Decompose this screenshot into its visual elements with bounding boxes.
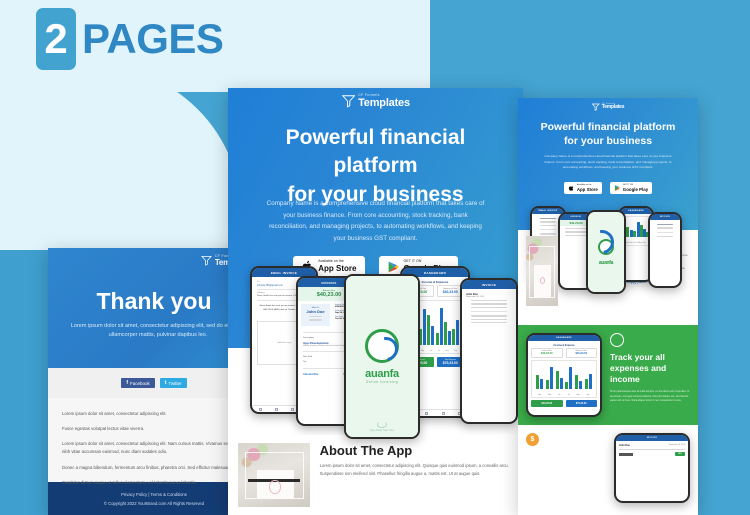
description-label: Description [303,337,314,339]
bar-income-may [546,380,549,390]
bar-group [444,304,451,345]
bar-expense-jul [569,367,572,390]
billed-to-block: Billed To John Doe [301,304,330,326]
x-tick-label: Aug [577,394,580,396]
green-section-phone[interactable]: DASHBOARD Income & Expense Income of Yea… [526,333,602,417]
right-store-buttons: Available on the App Store GET IT ON Goo… [518,182,698,194]
twitter-icon: t [165,380,167,386]
bar-income-sep [585,379,588,389]
right-bottom-section: $ INVOICE John Doe September 06, 2018 [518,425,698,515]
headline-line-1: Powerful financial platform [530,120,686,134]
status-badge: PAID [675,452,685,456]
main-subtext: Company Name is a comprehensive cloud fi… [266,198,485,245]
bar-group [633,220,640,237]
app-store-main: App Store [577,187,598,192]
poster-stage: 2 PAGES CF Funnels Templates Thank you L… [0,0,750,515]
bar-group [546,364,553,389]
about-photo [526,236,558,306]
x-tick-label: Jul [568,394,570,396]
brand-logo: CF Funnels Templates [341,94,410,109]
total-income-value: $40,23.00 [533,402,561,405]
bar-group [565,364,572,389]
bar-income-jul [436,333,439,345]
main-about-section: About The App Lorem ipsum dolor sit amet… [228,435,523,515]
reports-icon[interactable] [291,408,294,411]
wreath-icon [377,421,387,428]
about-title: About The App [320,443,513,458]
bar-income-aug [444,322,447,345]
bottom-text-block: $ [526,433,606,507]
splash-footer: Save Paper Save Tree [346,429,418,432]
expense-value: $40,23.00 [440,290,462,294]
chart-x-axis: AprMayJunJulAugSep [626,242,646,244]
google-play-icon [614,184,621,192]
funnel-icon [201,255,212,266]
main-hero: CF Funnels Templates Powerful financial … [228,88,523,348]
x-tick-label: Sep [643,242,646,244]
facebook-icon: f [126,380,128,386]
facebook-label: Facebook [130,381,150,386]
x-tick-label: Jun [558,394,561,396]
bar-expense-sep [589,374,592,390]
bar-group [536,364,543,389]
total-expense-label: Total Expense [439,359,463,361]
phone-mockups: EMAIL INVOICE To: johndoe789@gmail.com S… [228,252,523,432]
home-icon[interactable] [259,408,262,411]
expense-card: Expense of Year $40,23.00 [566,348,598,358]
pages-badge: 2 PAGES [36,8,223,70]
bar-group [436,304,443,345]
headline-line-1: Powerful financial platform [246,124,505,181]
x-tick-label: Jun [430,350,433,352]
phone-invoice-list[interactable]: INVOICE John Doe September 06, 2018 PAID [614,433,690,503]
leaf-badge-icon [610,333,624,347]
funnel-icon [592,103,600,111]
bar-group [556,364,563,389]
right-green-section: DASHBOARD Income & Expense Income of Yea… [518,325,698,425]
green-text-block: Track your all expenses and income Proin… [610,333,690,417]
x-tick-label: Aug [446,350,449,352]
app-tagline: Online Invoicing [366,380,398,384]
billed-to-name: John Doe [304,309,327,314]
google-play-main: Google Play [623,187,648,192]
bar-expense-jun [560,378,563,390]
feature-badge-icon: $ [526,433,539,446]
twitter-share-button[interactable]: t Twitter [160,378,187,388]
total-label: Amount Due [303,373,318,376]
bar-expense-aug [448,331,451,345]
clock-icon[interactable] [442,412,445,415]
thankyou-paragraph: Fusce egestas volutpat lectus vitae vive… [62,425,246,433]
phone-invoice-list[interactable]: INVOICE John Doe September 06, 2018 [460,278,518,424]
phone-invoice-list[interactable]: INVOICE [648,212,682,288]
bar-income-apr [626,227,629,237]
invoice-icon[interactable] [275,408,278,411]
thankyou-paragraph: Donec a magna bibendum, fermentum arcu f… [62,464,246,472]
apple-icon [568,184,575,192]
funnel-icon [341,94,355,108]
expense-value: $40,23.00 [569,352,595,355]
splash-screen: auanfa Online Invoicing Save Paper Save … [346,276,418,437]
invoice-list-date: September 06, 2018 [466,296,512,298]
bar-group [585,364,592,389]
app-name: auanfa [599,260,613,266]
x-tick-label: May [629,242,632,244]
bar-group [626,220,633,237]
phone-splash[interactable]: auanfa [586,210,626,294]
total-expense-value: $70,23.00 [568,402,596,405]
thankyou-subtext: Lorem ipsum dolor sit amet, consectetur … [64,322,252,341]
badge-number: 2 [36,8,76,70]
bar-income-jul [565,382,568,390]
brand-logo-main: Templates [358,98,410,109]
x-tick-label: May [421,350,424,352]
bar-income-apr [536,375,539,390]
green-paragraph: Proin pellentesque ante at nulla tempus,… [610,390,690,404]
main-headline: Powerful financial platform for your bus… [246,124,505,209]
phone-titlebar: INVOICE [462,280,516,289]
bar-group [427,304,434,345]
x-tick-label: Sep [454,350,457,352]
bar-expense-may [423,309,426,345]
bar-expense-may [550,367,553,389]
right-headline: Powerful financial platform for your bus… [530,120,686,148]
tax-label: Tax [303,361,306,363]
bar-group [419,304,426,345]
about-photo [238,443,310,507]
phone-splash[interactable]: auanfa Online Invoicing Save Paper Save … [344,274,420,439]
auanfa-logo-icon [598,239,614,255]
right-subtext: Company Name is a comprehensive cloud fi… [540,154,676,171]
chart-x-axis: AprMayJunJulAugSep [535,394,593,396]
google-play-button[interactable]: GET IT ON Google Play [610,182,652,194]
bar-group [640,220,647,237]
income-expense-chart: AprMayJunJulAugSep [531,360,597,398]
bar-income-sep [452,329,455,345]
bar-expense-aug [579,381,582,390]
total-income-card: $40,23.00 [531,400,563,407]
subtotal-label: Sub Total [303,356,312,358]
bar-expense-sep [456,320,459,345]
bar-group [575,364,582,389]
bottom-phone[interactable]: INVOICE John Doe September 06, 2018 PAID [614,433,690,507]
brand-logo: CF Funnels Templates [592,103,625,111]
badge-label: PAGES [82,15,223,63]
income-expense-chart: AprMayJunJulAugSep [622,216,650,246]
phone-dashboard[interactable]: DASHBOARD Income & Expense Income of Yea… [526,333,602,417]
total-expense-value: $70,23.00 [439,361,463,365]
income-card: Income of Year $40,23.00 [531,348,563,358]
bar-expense-jul [440,308,443,345]
twitter-label: Twitter [168,381,181,386]
main-landing-page[interactable]: CF Funnels Templates Powerful financial … [228,88,523,515]
bar-income-may [633,231,636,237]
about-paragraph: Lorem ipsum dolor sit amet, consectetur … [320,462,513,478]
footer-links[interactable]: Privacy Policy | Terms & Conditions [121,492,187,497]
bar-expense-apr [540,379,543,390]
facebook-share-button[interactable]: f Facebook [121,378,154,388]
phone-titlebar: DASHBOARD [620,208,652,214]
brand-logo-main: Templates [602,105,625,110]
auanfa-logo-icon [365,329,399,363]
x-tick-label: Jul [438,350,440,352]
about-text-block: About The App Lorem ipsum dolor sit amet… [320,443,513,507]
thankyou-paragraph: Lorem ipsum dolor sit amet, consectetur … [62,410,246,418]
bar-expense-jun [431,326,434,345]
app-store-button[interactable]: Available on the App Store [564,182,602,194]
dashboard-section-title: Income & Expense [528,341,600,348]
green-title: Track your all expenses and income [610,352,690,385]
invoice-list-name: John Doe [619,444,630,447]
income-value: $40,23.00 [534,352,560,355]
bar-income-jun [427,315,430,345]
bar-group [452,304,459,345]
footer-copyright: © Copyright 2022 YourBrand.com All Right… [104,501,204,506]
headline-line-2: for your business [530,134,686,148]
bar-income-jun [640,225,643,237]
bar-income-jun [556,371,559,389]
x-tick-label: May [548,394,551,396]
thankyou-paragraph: Lorem ipsum dolor sit amet, consectetur … [62,440,246,456]
right-landing-page[interactable]: CF Funnels Templates Powerful financial … [518,98,698,515]
invoice-list-date: September 06, 2018 [669,444,685,447]
app-name: auanfa [365,368,399,380]
total-expense-card: $70,23.00 [566,400,598,407]
x-tick-label: Sep [586,394,589,396]
x-tick-label: Apr [538,394,541,396]
right-hero: CF Funnels Templates Powerful financial … [518,98,698,230]
invoice-icon[interactable] [425,412,428,415]
bar-income-aug [575,375,578,389]
